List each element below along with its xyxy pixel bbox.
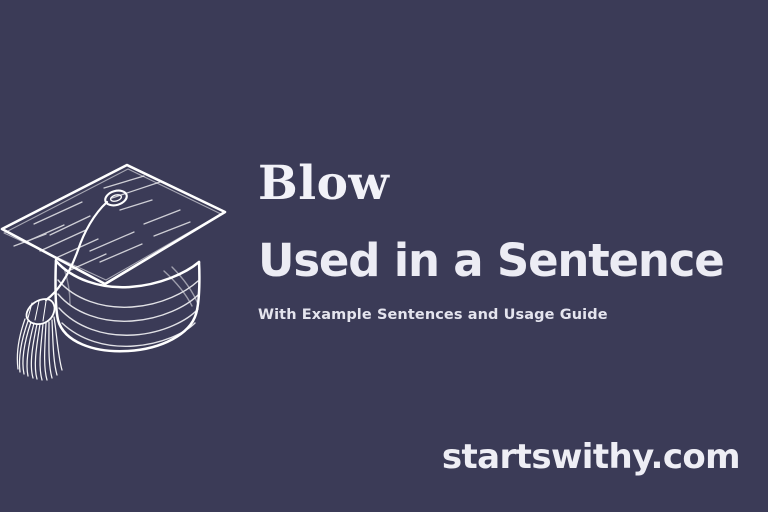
brand-website: startswithy.com — [442, 440, 740, 474]
page-title-word: Blow — [258, 160, 758, 220]
tassel-cord — [46, 202, 107, 300]
button-icon — [103, 188, 128, 208]
page-headline: Used in a Sentence — [258, 238, 724, 283]
mortarboard-top — [2, 165, 225, 284]
cap-base — [56, 260, 200, 351]
promo-card: Blow Used in a Sentence With Example Sen… — [0, 0, 768, 512]
page-tagline: With Example Sentences and Usage Guide — [258, 308, 608, 323]
cap-base-lines — [58, 267, 198, 346]
text-block: Blow Used in a Sentence With Example Sen… — [258, 160, 758, 220]
graduation-cap-icon — [0, 140, 234, 370]
tassel-strands — [17, 317, 62, 380]
tassel-head — [26, 299, 54, 324]
board-hatching — [14, 176, 190, 271]
